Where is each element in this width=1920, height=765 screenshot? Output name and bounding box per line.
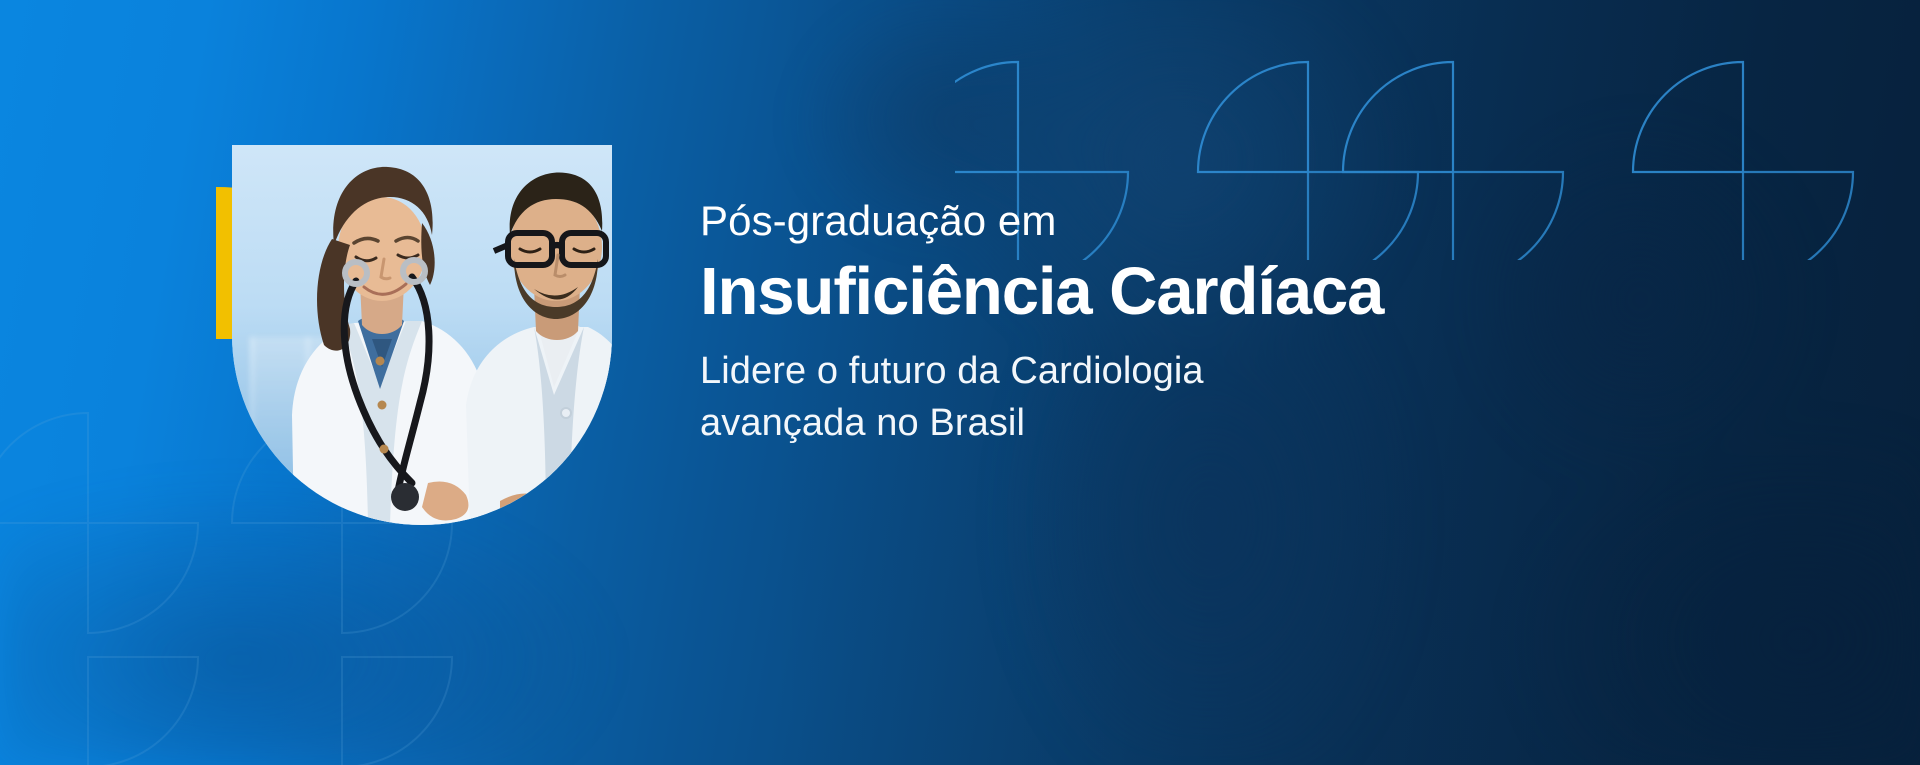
doctors-photo — [232, 145, 612, 525]
page-title: Insuficiência Cardíaca — [700, 251, 1600, 333]
hero-copy: Pós-graduação em Insuficiência Cardíaca … — [700, 193, 1600, 449]
hero-banner: Pós-graduação em Insuficiência Cardíaca … — [0, 0, 1920, 765]
subtitle-line-1: Lidere o futuro da Cardiologia — [700, 345, 1600, 397]
subtitle: Lidere o futuro da Cardiologia avançada … — [700, 345, 1600, 449]
eyebrow-text: Pós-graduação em — [700, 193, 1600, 249]
male-doctor-figure — [442, 155, 612, 525]
subtitle-line-2: avançada no Brasil — [700, 397, 1600, 449]
